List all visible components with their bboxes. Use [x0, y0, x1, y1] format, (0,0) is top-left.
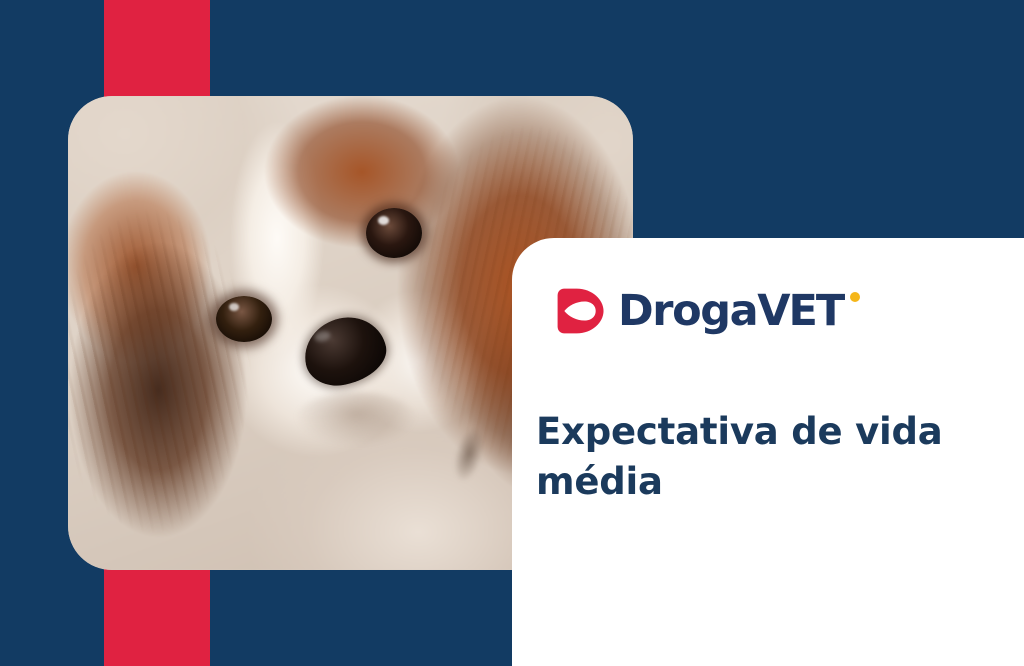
dog-left-eye — [216, 296, 272, 342]
wordmark-droga: Droga — [618, 286, 757, 336]
dog-right-eye — [366, 208, 422, 258]
drogavet-wordmark: DrogaVET — [618, 290, 843, 333]
wordmark-vet: VET — [757, 286, 843, 336]
drogavet-logo[interactable]: DrogaVET — [552, 283, 843, 339]
dog-chin-shadow — [296, 392, 416, 446]
drogavet-mark-icon — [552, 283, 608, 339]
slide-canvas: DrogaVET Expectativa de vida média — [0, 0, 1024, 666]
logo-accent-dot-icon — [850, 292, 860, 302]
page-title: Expectativa de vida média — [536, 407, 956, 507]
